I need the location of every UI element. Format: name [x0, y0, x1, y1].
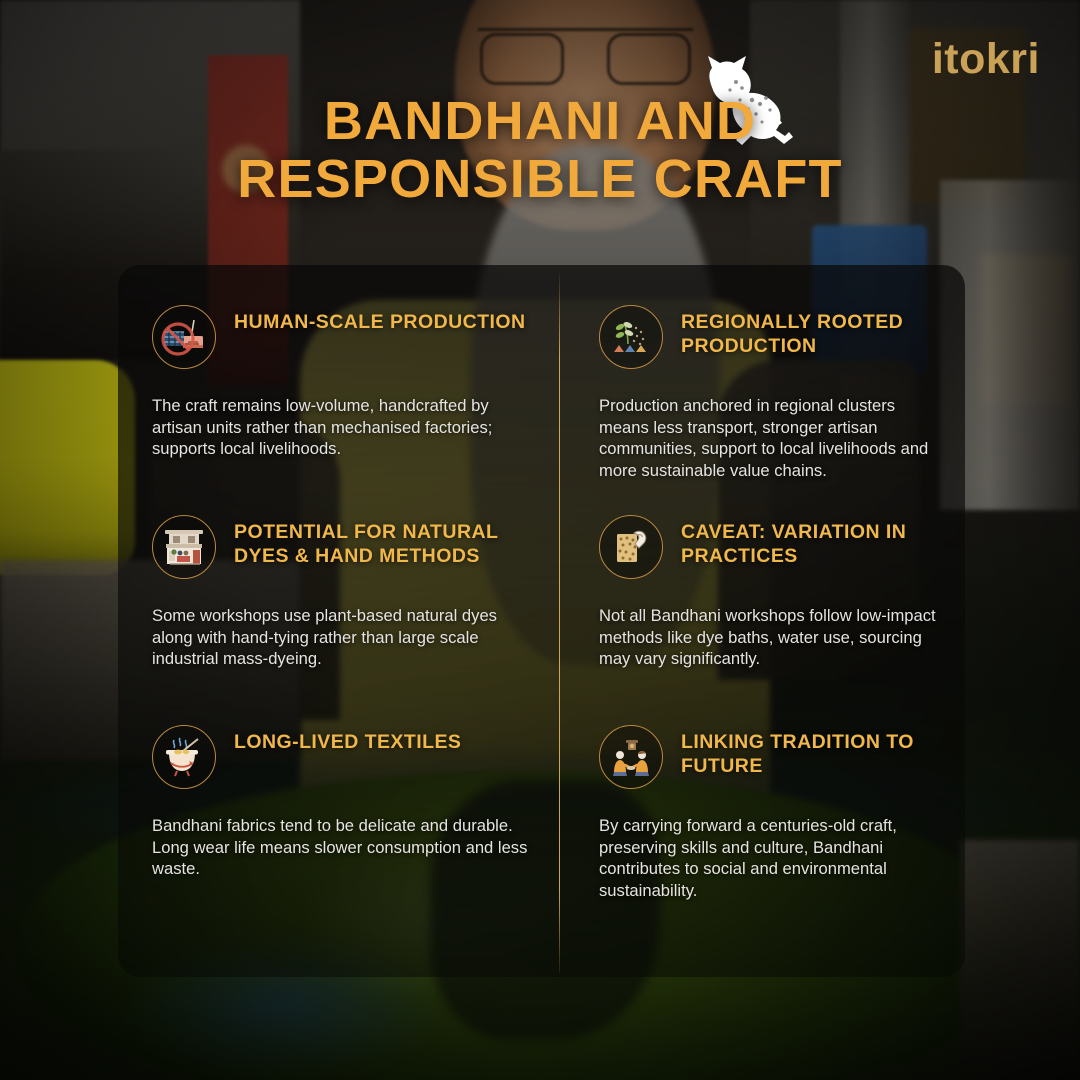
seedling-regions-icon [599, 305, 663, 369]
brand-logo[interactable]: itokri [932, 38, 1040, 81]
hand-holding-fabric-icon [599, 515, 663, 579]
card-header: HUMAN-SCALE PRODUCTION [152, 303, 533, 369]
card-title: LONG-LIVED TEXTILES [234, 731, 461, 755]
card-header: POTENTIAL FOR NATURAL DYES & HAND METHOD… [152, 513, 533, 579]
card-regionally-rooted-production: REGIONALLY ROOTED PRODUCTION Production … [559, 265, 965, 475]
card-header: LINKING TRADITION TO FUTURE [599, 723, 937, 789]
card-body: Bandhani fabrics tend to be delicate and… [152, 815, 533, 880]
page-title-line-2: RESPONSIBLE CRAFT [0, 150, 1080, 208]
card-title: REGIONALLY ROOTED PRODUCTION [681, 311, 937, 359]
page-title: BANDHANI AND RESPONSIBLE CRAFT [0, 92, 1080, 209]
workshop-building-icon [152, 515, 216, 579]
card-body: The craft remains low-volume, handcrafte… [152, 395, 533, 460]
card-body: By carrying forward a centuries-old craf… [599, 815, 937, 901]
card-natural-dyes-hand-methods: POTENTIAL FOR NATURAL DYES & HAND METHOD… [118, 475, 559, 685]
infographic-canvas: itokri BANDHANI AND RESPONSIBLE CRAFT [0, 0, 1080, 1080]
page-title-line-1: BANDHANI AND [0, 92, 1080, 150]
no-factory-icon [152, 305, 216, 369]
card-header: REGIONALLY ROOTED PRODUCTION [599, 303, 937, 369]
card-linking-tradition-to-future: LINKING TRADITION TO FUTURE By carrying … [559, 685, 965, 977]
card-title: CAVEAT: VARIATION IN PRACTICES [681, 521, 937, 569]
card-body: Production anchored in regional clusters… [599, 395, 937, 481]
card-title: POTENTIAL FOR NATURAL DYES & HAND METHOD… [234, 521, 533, 569]
card-body: Not all Bandhani workshops follow low-im… [599, 605, 937, 670]
card-human-scale-production: HUMAN-SCALE PRODUCTION The craft remains… [118, 265, 559, 475]
card-caveat-variation-in-practices: CAVEAT: VARIATION IN PRACTICES Not all B… [559, 475, 965, 685]
card-title: LINKING TRADITION TO FUTURE [681, 731, 937, 779]
cards-grid: HUMAN-SCALE PRODUCTION The craft remains… [118, 265, 965, 977]
card-body: Some workshops use plant-based natural d… [152, 605, 533, 670]
steaming-dye-pot-icon [152, 725, 216, 789]
content-panel: HUMAN-SCALE PRODUCTION The craft remains… [118, 265, 965, 977]
two-artisans-icon [599, 725, 663, 789]
card-long-lived-textiles: LONG-LIVED TEXTILES Bandhani fabrics ten… [118, 685, 559, 977]
card-title: HUMAN-SCALE PRODUCTION [234, 311, 526, 335]
card-header: CAVEAT: VARIATION IN PRACTICES [599, 513, 937, 579]
brand-logo-text: itokri [932, 38, 1040, 81]
card-header: LONG-LIVED TEXTILES [152, 723, 533, 789]
